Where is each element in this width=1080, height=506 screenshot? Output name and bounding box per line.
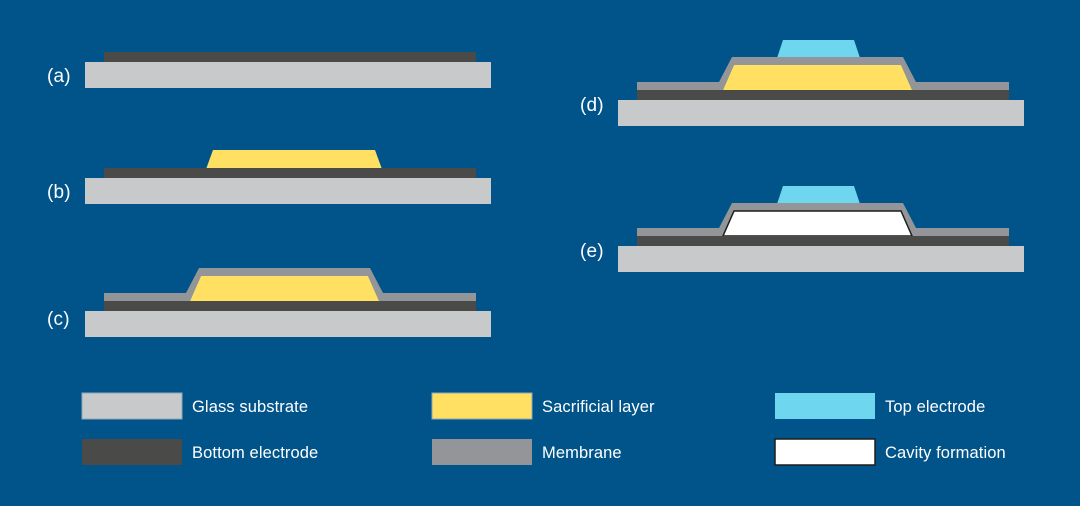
panel-b-glass-substrate <box>85 178 491 204</box>
legend-swatch-sacrificial-layer <box>432 393 532 419</box>
panel-a: (a) <box>47 52 491 88</box>
legend-swatch-membrane <box>432 439 532 465</box>
panel-c-sacrificial-layer <box>190 276 379 301</box>
legend-swatch-glass-substrate <box>82 393 182 419</box>
panel-e-label: (e) <box>580 241 604 262</box>
legend-label-sacrificial-layer: Sacrificial layer <box>542 398 655 416</box>
panel-d-sacrificial-layer <box>723 65 912 90</box>
panel-b-bottom-electrode <box>104 168 476 178</box>
panel-a-bottom-electrode <box>104 52 476 62</box>
panel-e-top-electrode <box>777 186 860 204</box>
panel-a-label: (a) <box>47 66 71 87</box>
legend-label-bottom-electrode: Bottom electrode <box>192 444 318 462</box>
legend-swatch-cavity-formation <box>775 439 875 465</box>
panel-d-top-electrode <box>777 40 860 58</box>
panel-d-glass-substrate <box>618 100 1024 126</box>
legend-swatch-top-electrode <box>775 393 875 419</box>
panel-c-label: (c) <box>47 309 70 330</box>
legend-label-top-electrode: Top electrode <box>885 398 985 416</box>
panel-a-glass-substrate <box>85 62 491 88</box>
panel-c-glass-substrate <box>85 311 491 337</box>
legend-label-membrane: Membrane <box>542 444 622 462</box>
process-flow-diagram: (a) (b) (c) (d) (e) <box>0 0 1080 506</box>
panel-e-bottom-electrode <box>637 236 1009 246</box>
legend-label-glass-substrate: Glass substrate <box>192 398 308 416</box>
legend-label-cavity-formation: Cavity formation <box>885 444 1006 462</box>
panel-d-bottom-electrode <box>637 90 1009 100</box>
legend-swatch-bottom-electrode <box>82 439 182 465</box>
panel-e-cavity-formation <box>723 211 912 236</box>
panel-b-label: (b) <box>47 182 71 203</box>
panel-d-label: (d) <box>580 95 604 116</box>
panel-c-bottom-electrode <box>104 301 476 311</box>
panel-e-glass-substrate <box>618 246 1024 272</box>
